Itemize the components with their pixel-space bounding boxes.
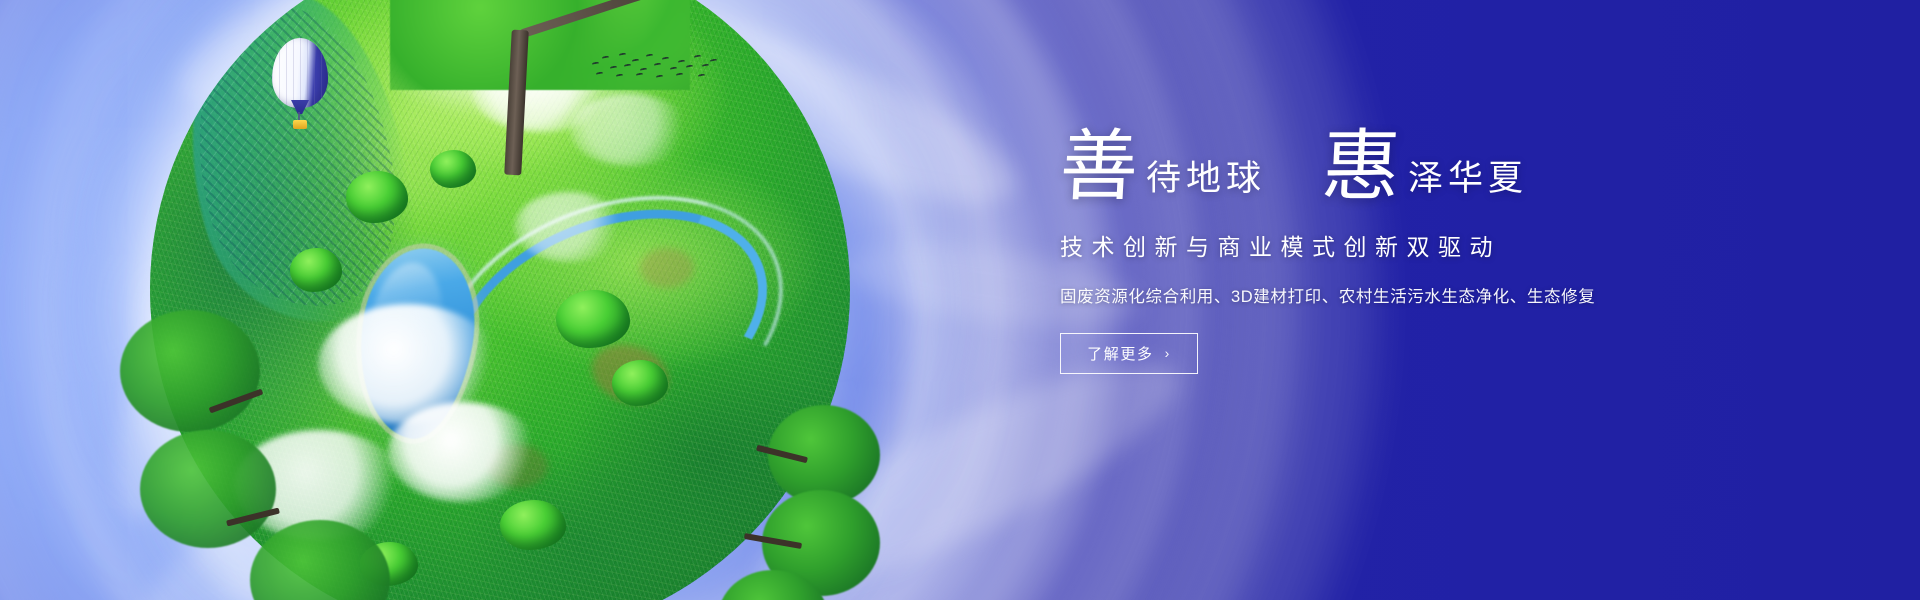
headline-phrase2-emphasis: 惠 — [1320, 132, 1402, 204]
bush-icon — [612, 360, 668, 406]
tree-icon — [700, 570, 830, 600]
bush-icon — [290, 248, 342, 292]
headline: 善 待地球 惠 泽华夏 — [1060, 132, 1820, 204]
soil-patch — [640, 248, 694, 288]
hero-banner: 善 待地球 惠 泽华夏 技术创新与商业模式创新双驱动 固废资源化综合利用、3D建… — [0, 0, 1920, 600]
hero-content: 善 待地球 惠 泽华夏 技术创新与商业模式创新双驱动 固废资源化综合利用、3D建… — [1060, 132, 1820, 374]
cloud-puff — [514, 192, 624, 262]
cloud-puff — [388, 402, 538, 502]
bush-icon — [346, 171, 408, 223]
headline-phrase1-rest: 待地球 — [1146, 162, 1266, 204]
balloon-basket — [293, 120, 307, 129]
learn-more-label: 了解更多 — [1087, 343, 1153, 364]
chevron-right-icon: › — [1165, 346, 1171, 360]
headline-phrase1-emphasis: 善 — [1058, 132, 1140, 204]
tree-icon — [250, 520, 400, 600]
description: 固废资源化综合利用、3D建材打印、农村生活污水生态净化、生态修复 — [1060, 283, 1820, 307]
subtitle: 技术创新与商业模式创新双驱动 — [1060, 228, 1820, 262]
bush-icon — [556, 290, 630, 348]
balloon-envelope — [272, 38, 328, 108]
headline-phrase2-rest: 泽华夏 — [1408, 162, 1528, 204]
birds-flock-icon — [590, 40, 730, 90]
bush-icon — [500, 500, 566, 550]
learn-more-button[interactable]: 了解更多 › — [1060, 333, 1198, 374]
hot-air-balloon-icon — [272, 38, 328, 130]
